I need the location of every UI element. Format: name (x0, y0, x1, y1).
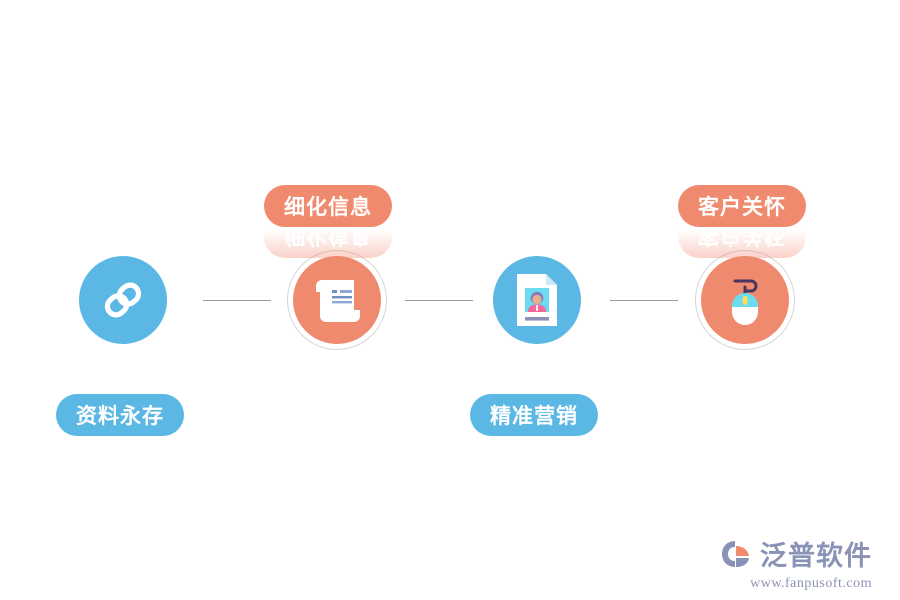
step-label-3[interactable]: 精准营销 (470, 394, 598, 436)
chain-link-icon (97, 274, 149, 326)
step-label-reflection-text-2: 细化信息 (264, 228, 392, 258)
step-circle-1[interactable] (79, 256, 167, 344)
step-label-4[interactable]: 客户关怀 (678, 185, 806, 227)
computer-mouse-icon (719, 273, 771, 327)
step-label-wrap-4: 客户关怀 客户关怀 (678, 185, 806, 258)
step-label-reflection-2: 细化信息 (264, 228, 392, 258)
step-label-wrap-3: 精准营销 (470, 394, 598, 436)
step-label-reflection-4: 客户关怀 (678, 228, 806, 258)
connector-line-1 (203, 300, 271, 301)
brand-watermark: 泛普软件 www.fanpusoft.com (721, 539, 872, 592)
step-circle-3[interactable] (493, 256, 581, 344)
step-label-reflection-text-4: 客户关怀 (678, 228, 806, 258)
fanpu-c-mark-icon (721, 539, 755, 574)
step-label-2[interactable]: 细化信息 (264, 185, 392, 227)
id-card-icon (514, 272, 560, 328)
step-label-1[interactable]: 资料永存 (56, 394, 184, 436)
step-circle-4[interactable] (701, 256, 789, 344)
brand-url: www.fanpusoft.com (721, 576, 872, 592)
brand-name: 泛普软件 (760, 543, 872, 570)
step-circle-2[interactable] (293, 256, 381, 344)
brand-row: 泛普软件 (721, 539, 872, 574)
scroll-document-icon (312, 274, 362, 326)
step-label-wrap-2: 细化信息 细化信息 (264, 185, 392, 258)
connector-line-3 (610, 300, 678, 301)
step-label-wrap-1: 资料永存 (56, 394, 184, 436)
connector-line-2 (405, 300, 473, 301)
infographic-canvas: 细化信息 细化信息 客户关怀 客户关怀 资料永存 精准营销 泛普软件 ww (0, 0, 900, 600)
